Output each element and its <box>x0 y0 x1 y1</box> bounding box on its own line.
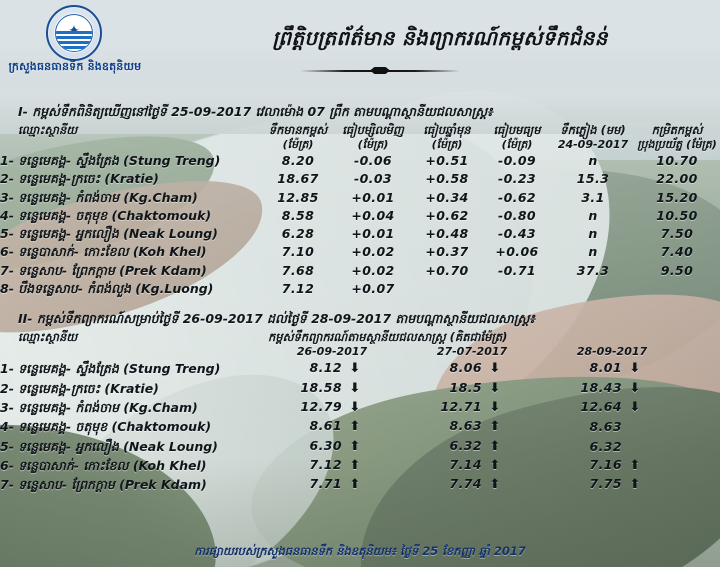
water-waves-icon <box>56 31 92 51</box>
cell-forecast-day-1: 7.12⬆ <box>262 456 402 475</box>
arrow-up-icon: ⬆ <box>482 457 508 475</box>
cell-forecast-day-2: 12.71⬇ <box>402 398 542 417</box>
station-name: 2- ទន្លេមេគង្គ-ក្រចេះ (Kratie) <box>0 170 262 188</box>
cell-rainfall: n <box>552 152 634 170</box>
col-header-station-2: ឈ្មោះស្ថានីយ <box>0 330 262 345</box>
forecast-date-2: 27-07-2017 <box>402 345 542 359</box>
cell-vs-yesterday: +0.02 <box>334 262 412 280</box>
arrow-down-icon: ⬇ <box>482 380 508 398</box>
table-row: 2- ទន្លេមេគង្គ-ក្រចេះ (Kratie)18.58⬇18.5… <box>0 379 720 398</box>
station-name: 8- បឹងទន្លេសាប- កំពង់លួង (Kg.Luong) <box>0 280 262 298</box>
poster-header: ✦ ក្រសួងធនធានទឹក និងឧតុនិយម ព្រឹត្តិបត្រ… <box>0 0 720 96</box>
col-header-rainfall: ទឹកភ្លៀង (មម) <box>552 123 634 138</box>
cell-forecast-day-3: 7.16⬆ <box>542 456 682 475</box>
cell-forecast-day-1: 6.30⬆ <box>262 437 402 456</box>
ornamental-divider-icon <box>300 66 460 76</box>
cell-vs-average: +0.06 <box>482 243 552 261</box>
forecast-value: 8.06 <box>436 359 482 377</box>
table-row: 7- ទន្លេសាប- ព្រែកក្ដាម (Prek Kdam)7.68+… <box>0 262 720 280</box>
forecast-value: 8.01 <box>576 359 622 377</box>
cell-forecast-day-3: 18.43⬇ <box>542 379 682 398</box>
forecast-rows: 1- ទន្លេមេគង្គ- ស្ទឹងត្រែង (Stung Treng)… <box>0 359 720 494</box>
cell-vs-average: -0.62 <box>482 189 552 207</box>
col-header-forecast-group: កម្ពស់ទឹកព្យាករណ៍តាមស្ថានីយជលសាស្ត្រ (គិ… <box>262 330 720 345</box>
cell-forecast-day-1: 18.58⬇ <box>262 379 402 398</box>
cell-vs-lastyear: +0.58 <box>412 170 482 188</box>
cell-vs-yesterday: +0.02 <box>334 243 412 261</box>
forecast-value: 6.32 <box>576 438 622 456</box>
arrow-up-icon: ⬆ <box>622 457 648 475</box>
cell-forecast-day-3: 6.32 <box>542 437 682 456</box>
unit-alarm: ប្រុងប្រយ័ត្ន (ម៉ែត្រ) <box>634 138 720 152</box>
forecast-value: 7.75 <box>576 475 622 493</box>
cell-vs-yesterday: +0.07 <box>334 280 412 298</box>
forecast-value: 18.58 <box>296 379 342 397</box>
forecast-value: 6.32 <box>436 437 482 455</box>
forecast-date-row: 26-09-2017 27-07-2017 28-09-2017 <box>0 345 720 359</box>
poster-content: I- កម្ពស់ទឹកពិនិត្យឃើញនៅថ្ងៃទី 25-09-201… <box>0 96 720 567</box>
table-row: 4- ទន្លេមេគង្គ- ចតុមុខ (Chaktomouk)8.61⬆… <box>0 417 720 436</box>
table-row: 3- ទន្លេមេគង្គ- កំពង់ចាម (Kg.Cham)12.85+… <box>0 189 720 207</box>
table-row: 5- ទន្លេមេគង្គ- អ្នកលឿង (Neak Loung)6.30… <box>0 437 720 456</box>
arrow-up-icon: ⬆ <box>342 418 368 436</box>
table-header-row: ឈ្មោះស្ថានីយ ទឹកមានកម្ពស់ ធៀបម្សិលមិញ ធៀ… <box>0 123 720 138</box>
forecast-date-1: 26-09-2017 <box>262 345 402 359</box>
cell-alarm: 7.40 <box>634 243 720 261</box>
station-name: 6- ទន្លេបាសាក់- កោះខែល (Koh Khel) <box>0 456 262 475</box>
cell-rainfall: 3.1 <box>552 189 634 207</box>
forecast-value: 12.64 <box>576 398 622 416</box>
cell-rainfall: n <box>552 225 634 243</box>
cell-alarm: 22.00 <box>634 170 720 188</box>
cell-forecast-day-3: 8.01⬇ <box>542 359 682 378</box>
table-row: 3- ទន្លេមេគង្គ- កំពង់ចាម (Kg.Cham)12.79⬇… <box>0 398 720 417</box>
cell-alarm: 15.20 <box>634 189 720 207</box>
unit-level: (ម៉ែត្រ) <box>262 138 334 152</box>
arrow-down-icon: ⬇ <box>342 399 368 417</box>
arrow-up-icon: ⬆ <box>342 457 368 475</box>
cell-forecast-day-2: 8.06⬇ <box>402 359 542 378</box>
forecast-value: 12.71 <box>436 398 482 416</box>
arrow-up-icon: ⬆ <box>482 438 508 456</box>
station-name: 5- ទន្លេមេគង្គ- អ្នកលឿង (Neak Loung) <box>0 437 262 456</box>
forecast-value: 6.30 <box>296 437 342 455</box>
cell-level: 12.85 <box>262 189 334 207</box>
station-name: 2- ទន្លេមេគង្គ-ក្រចេះ (Kratie) <box>0 379 262 398</box>
col-header-vs-yesterday: ធៀបម្សិលមិញ <box>334 123 412 138</box>
cell-forecast-day-3: 7.75⬆ <box>542 475 682 494</box>
cell-level: 6.28 <box>262 225 334 243</box>
col-header-station: ឈ្មោះស្ថានីយ <box>0 123 262 138</box>
unit-vs-average: (ម៉ែត្រ) <box>482 138 552 152</box>
divider-diamond <box>370 67 390 74</box>
cell-level: 7.68 <box>262 262 334 280</box>
forecast-value: 7.16 <box>576 456 622 474</box>
cell-vs-yesterday: -0.03 <box>334 170 412 188</box>
row-pad <box>682 456 720 475</box>
unit-vs-lastyear: (ម៉ែត្រ) <box>412 138 482 152</box>
bulletin-poster: ✦ ក្រសួងធនធានទឹក និងឧតុនិយម ព្រឹត្តិបត្រ… <box>0 0 720 567</box>
station-name: 3- ទន្លេមេគង្គ- កំពង់ចាម (Kg.Cham) <box>0 189 262 207</box>
cell-vs-yesterday: +0.04 <box>334 207 412 225</box>
ministry-water-resources-emblem-icon: ✦ <box>46 5 102 61</box>
observed-rows: 1- ទន្លេមេគង្គ- ស្ទឹងត្រែង (Stung Treng)… <box>0 152 720 298</box>
footer-publication-note: ការផ្សាយរបស់ក្រសួងធនធានទឹក និងឧតុនិយម៖ ថ… <box>0 544 720 561</box>
cell-vs-lastyear: +0.48 <box>412 225 482 243</box>
station-name: 6- ទន្លេបាសាក់- កោះខែល (Koh Khel) <box>0 243 262 261</box>
cell-vs-lastyear: +0.70 <box>412 262 482 280</box>
table-row: 4- ទន្លេមេគង្គ- ចតុមុខ (Chaktomouk)8.58+… <box>0 207 720 225</box>
cell-vs-average: -0.80 <box>482 207 552 225</box>
table-row: 7- ទន្លេសាប- ព្រែកក្ដាម (Prek Kdam)7.71⬆… <box>0 475 720 494</box>
cell-vs-average: -0.23 <box>482 170 552 188</box>
cell-alarm <box>634 280 720 298</box>
table-row: 5- ទន្លេមេគង្គ- អ្នកលឿង (Neak Loung)6.28… <box>0 225 720 243</box>
row-pad <box>682 379 720 398</box>
table-row: 2- ទន្លេមេគង្គ-ក្រចេះ (Kratie)18.67-0.03… <box>0 170 720 188</box>
arrow-up-icon: ⬆ <box>622 476 648 494</box>
station-name: 4- ទន្លេមេគង្គ- ចតុមុខ (Chaktomouk) <box>0 207 262 225</box>
station-name: 7- ទន្លេសាប- ព្រែកក្ដាម (Prek Kdam) <box>0 475 262 494</box>
forecast-levels-table: ឈ្មោះស្ថានីយ កម្ពស់ទឹកព្យាករណ៍តាមស្ថានីយ… <box>0 330 720 494</box>
section-2-heading: II- កម្ពស់ទឹកព្យាករណ៍សម្រាប់ថ្ងៃទី 26-09… <box>0 311 720 330</box>
unit-rain-date: 24-09-2017 <box>552 138 634 152</box>
cell-forecast-day-1: 8.61⬆ <box>262 417 402 436</box>
forecast-value: 8.12 <box>296 359 342 377</box>
forecast-value: 18.43 <box>576 379 622 397</box>
cell-forecast-day-2: 8.63⬆ <box>402 417 542 436</box>
cell-forecast-day-2: 6.32⬆ <box>402 437 542 456</box>
forecast-value: 8.61 <box>296 417 342 435</box>
forecast-value: 7.74 <box>436 475 482 493</box>
unit-station <box>0 138 262 152</box>
cell-vs-lastyear <box>412 280 482 298</box>
cell-rainfall: 37.3 <box>552 262 634 280</box>
cell-rainfall <box>552 280 634 298</box>
forecast-value: 8.63 <box>576 418 622 436</box>
row-pad <box>682 359 720 378</box>
observed-levels-table: ឈ្មោះស្ថានីយ ទឹកមានកម្ពស់ ធៀបម្សិលមិញ ធៀ… <box>0 123 720 298</box>
cell-level: 7.10 <box>262 243 334 261</box>
row-pad <box>682 437 720 456</box>
table-row: 1- ទន្លេមេគង្គ- ស្ទឹងត្រែង (Stung Treng)… <box>0 359 720 378</box>
cell-alarm: 9.50 <box>634 262 720 280</box>
station-name: 3- ទន្លេមេគង្គ- កំពង់ចាម (Kg.Cham) <box>0 398 262 417</box>
cell-alarm: 7.50 <box>634 225 720 243</box>
cell-vs-lastyear: +0.37 <box>412 243 482 261</box>
table-row: 8- បឹងទន្លេសាប- កំពង់លួង (Kg.Luong)7.12+… <box>0 280 720 298</box>
cell-vs-lastyear: +0.51 <box>412 152 482 170</box>
forecast-date-3: 28-09-2017 <box>542 345 682 359</box>
col-header-vs-average: ធៀបមធ្យម <box>482 123 552 138</box>
cell-forecast-day-2: 7.74⬆ <box>402 475 542 494</box>
cell-forecast-day-3: 8.63 <box>542 417 682 436</box>
arrow-up-icon: ⬆ <box>342 438 368 456</box>
section-1-heading: I- កម្ពស់ទឹកពិនិត្យឃើញនៅថ្ងៃទី 25-09-201… <box>0 104 720 123</box>
cell-alarm: 10.50 <box>634 207 720 225</box>
arrow-down-icon: ⬇ <box>342 360 368 378</box>
arrow-down-icon: ⬇ <box>482 399 508 417</box>
cell-forecast-day-2: 18.5⬇ <box>402 379 542 398</box>
arrow-up-icon: ⬆ <box>482 476 508 494</box>
forecast-value: 7.14 <box>436 456 482 474</box>
cell-level: 8.20 <box>262 152 334 170</box>
station-name: 1- ទន្លេមេគង្គ- ស្ទឹងត្រែង (Stung Treng) <box>0 152 262 170</box>
ministry-label: ក្រសួងធនធានទឹក និងឧតុនិយម <box>0 60 150 76</box>
cell-level: 8.58 <box>262 207 334 225</box>
arrow-down-icon: ⬇ <box>342 380 368 398</box>
row-pad <box>682 417 720 436</box>
cell-vs-average <box>482 280 552 298</box>
cell-vs-yesterday: +0.01 <box>334 225 412 243</box>
station-name: 4- ទន្លេមេគង្គ- ចតុមុខ (Chaktomouk) <box>0 417 262 436</box>
forecast-header-row: ឈ្មោះស្ថានីយ កម្ពស់ទឹកព្យាករណ៍តាមស្ថានីយ… <box>0 330 720 345</box>
cell-rainfall: n <box>552 207 634 225</box>
forecast-value: 7.12 <box>296 456 342 474</box>
forecast-value: 8.63 <box>436 417 482 435</box>
cell-vs-lastyear: +0.34 <box>412 189 482 207</box>
cell-forecast-day-1: 12.79⬇ <box>262 398 402 417</box>
arrow-down-icon: ⬇ <box>622 360 648 378</box>
forecast-value: 7.71 <box>296 475 342 493</box>
cell-forecast-day-2: 7.14⬆ <box>402 456 542 475</box>
page-title: ព្រឹត្តិបត្រព័ត៌មាន និងព្យាករណ៍កម្ពស់ទឹក… <box>170 25 710 55</box>
cell-level: 7.12 <box>262 280 334 298</box>
station-name: 1- ទន្លេមេគង្គ- ស្ទឹងត្រែង (Stung Treng) <box>0 359 262 378</box>
station-name: 7- ទន្លេសាប- ព្រែកក្ដាម (Prek Kdam) <box>0 262 262 280</box>
forecast-pad <box>682 345 720 359</box>
cell-vs-yesterday: +0.01 <box>334 189 412 207</box>
cell-vs-average: -0.43 <box>482 225 552 243</box>
cell-alarm: 10.70 <box>634 152 720 170</box>
cell-vs-yesterday: -0.06 <box>334 152 412 170</box>
arrow-up-icon: ⬆ <box>482 418 508 436</box>
station-name: 5- ទន្លេមេគង្គ- អ្នកលឿង (Neak Loung) <box>0 225 262 243</box>
cell-rainfall: n <box>552 243 634 261</box>
cell-level: 18.67 <box>262 170 334 188</box>
cell-vs-average: -0.09 <box>482 152 552 170</box>
arrow-down-icon: ⬇ <box>622 380 648 398</box>
forecast-blank <box>0 345 262 359</box>
col-header-vs-lastyear: ធៀបឆ្នាំមុន <box>412 123 482 138</box>
table-unit-row: (ម៉ែត្រ) (ម៉ែត្រ) (ម៉ែត្រ) (ម៉ែត្រ) 24-0… <box>0 138 720 152</box>
cell-rainfall: 15.3 <box>552 170 634 188</box>
col-header-alarm: កម្រិតកម្ពស់ <box>634 123 720 138</box>
emblem-inner: ✦ <box>55 14 93 52</box>
row-pad <box>682 398 720 417</box>
arrow-down-icon: ⬇ <box>482 360 508 378</box>
cell-forecast-day-3: 12.64⬇ <box>542 398 682 417</box>
cell-vs-lastyear: +0.62 <box>412 207 482 225</box>
col-header-level: ទឹកមានកម្ពស់ <box>262 123 334 138</box>
row-pad <box>682 475 720 494</box>
forecast-value: 18.5 <box>436 379 482 397</box>
table-row: 6- ទន្លេបាសាក់- កោះខែល (Koh Khel)7.12⬆7.… <box>0 456 720 475</box>
arrow-down-icon: ⬇ <box>622 399 648 417</box>
cell-forecast-day-1: 7.71⬆ <box>262 475 402 494</box>
cell-vs-average: -0.71 <box>482 262 552 280</box>
cell-forecast-day-1: 8.12⬇ <box>262 359 402 378</box>
table-row: 1- ទន្លេមេគង្គ- ស្ទឹងត្រែង (Stung Treng)… <box>0 152 720 170</box>
arrow-up-icon: ⬆ <box>342 476 368 494</box>
table-row: 6- ទន្លេបាសាក់- កោះខែល (Koh Khel)7.10+0.… <box>0 243 720 261</box>
forecast-value: 12.79 <box>296 398 342 416</box>
unit-vs-yesterday: (ម៉ែត្រ) <box>334 138 412 152</box>
